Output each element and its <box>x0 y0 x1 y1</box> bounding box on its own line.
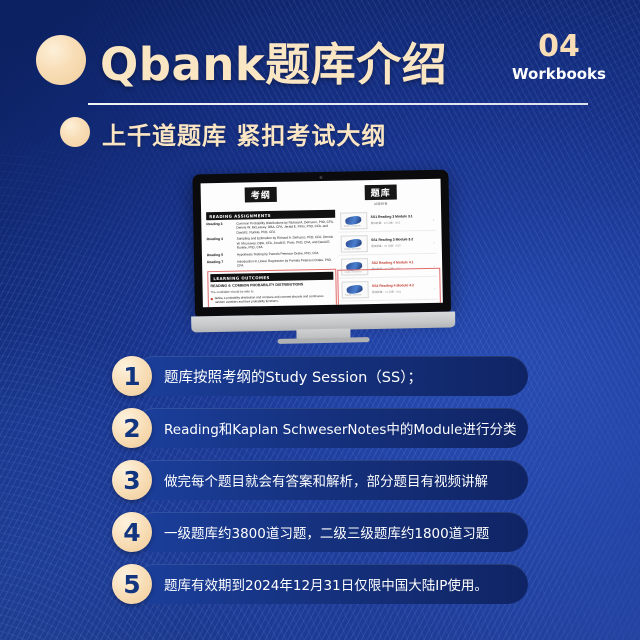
qbank-item-meta: SS1 Reading 3 Module 3.1 题目数量：12 已做：0/12 <box>371 214 430 225</box>
section-number-block: 04 Workbooks <box>500 32 618 82</box>
monitor-stand-foot <box>278 337 370 344</box>
decorative-dot-small <box>60 117 90 147</box>
list-item: 1 题库按照考纲的Study Session（SS）； <box>112 356 528 396</box>
qbank-item-sub: 题目数量：15 已做：0/15 <box>372 266 431 271</box>
list-item: 3 做完每个题目就会有答案和解析，部分题目有视频讲解 <box>112 460 528 500</box>
list-item: 4 一级题库约3800道习题，二级三级题库约1800道习题 <box>112 512 528 552</box>
qbank-item-meta: SS2 Reading 4 Module 4.2 题目数量：11 已做：0/11 <box>372 283 431 294</box>
bullet-square-icon <box>211 298 213 300</box>
qbank-list-item[interactable]: Kaplan Schweser SS1 Reading 3 Module 3.2… <box>339 231 437 256</box>
poster-header: Qbank题库介绍 04 Workbooks 上千道题库 紧扣考试大纲 <box>0 0 640 160</box>
module-thumbnail-icon: Kaplan Schweser <box>342 281 369 299</box>
list-item-number-badge: 1 <box>112 356 152 396</box>
outcome-text: define a probability distribution and co… <box>215 294 335 304</box>
list-item-number-badge: 4 <box>112 512 152 552</box>
learning-outcomes-box: LEARNING OUTCOMES READING 4: COMMON PROB… <box>207 269 338 307</box>
reading-row: Reading 4 Sampling and Estimation by Ric… <box>207 235 337 250</box>
outcome-bullet: define a probability distribution and co… <box>211 294 335 304</box>
chevron-right-icon: › <box>433 216 434 221</box>
qbank-item-meta: SS2 Reading 4 Module 4.1 题目数量：15 已做：0/15 <box>372 260 431 271</box>
decorative-dot-large <box>36 35 86 85</box>
monitor-bezel: 考纲 题库 试题列表 READING ASSIGNMENTS Reading 3… <box>192 170 451 317</box>
list-item: 5 题库有效期到2024年12月31日仅限中国大陆IP使用。 <box>112 564 528 604</box>
qbank-item-sub: 题目数量：11 已做：0/11 <box>372 289 431 294</box>
list-item: 2 Reading和Kaplan SchweserNotes中的Module进行… <box>112 408 528 448</box>
qbank-tag: 题库 <box>365 185 397 201</box>
module-thumbnail-icon: Kaplan Schweser <box>341 258 368 276</box>
syllabus-panel: READING ASSIGNMENTS Reading 3 Common Pro… <box>206 210 338 308</box>
list-item-text: 题库按照考纲的Study Session（SS）； <box>164 356 514 396</box>
section-number-label: Workbooks <box>500 67 618 82</box>
qbank-list-item[interactable]: Kaplan Schweser SS2 Reading 4 Module 4.1… <box>339 254 437 279</box>
reading-row: Reading 7 Introduction to Linear Regress… <box>207 258 337 269</box>
outcome-bullet: calculate and interpret probabilities fo… <box>211 303 335 307</box>
qbank-item-sub: 题目数量：10 已做：0/10 <box>371 243 430 248</box>
qbank-tag-sub: 试题列表 <box>365 202 397 207</box>
list-item-number-badge: 3 <box>112 460 152 500</box>
reading-label: Reading 3 <box>206 222 232 235</box>
header-divider <box>88 103 588 105</box>
learning-outcomes-header: LEARNING OUTCOMES <box>210 272 334 282</box>
monitor-screen: 考纲 题库 试题列表 READING ASSIGNMENTS Reading 3… <box>201 179 443 308</box>
list-item-number-badge: 5 <box>112 564 152 604</box>
qbank-item-meta: SS1 Reading 3 Module 3.2 题目数量：10 已做：0/10 <box>371 237 430 248</box>
chevron-right-icon: › <box>434 262 435 267</box>
reading-text: Hypothesis Testing by Pamela Peterson Dr… <box>237 251 337 258</box>
monitor-illustration: 考纲 题库 试题列表 READING ASSIGNMENTS Reading 3… <box>184 169 459 346</box>
module-thumbnail-icon: Kaplan Schweser <box>341 212 368 230</box>
list-item-text: 做完每个题目就会有答案和解析，部分题目有视频讲解 <box>164 460 514 500</box>
feature-list: 1 题库按照考纲的Study Session（SS）； 2 Reading和Ka… <box>112 356 528 616</box>
module-thumbnail-icon: Kaplan Schweser <box>341 235 368 253</box>
syllabus-tag-wrap: 考纲 <box>245 187 277 209</box>
webcam-icon <box>319 176 322 179</box>
list-item-number-badge: 2 <box>112 408 152 448</box>
qbank-item-sub: 题目数量：12 已做：0/12 <box>371 220 430 225</box>
reading-row: Reading 5 Hypothesis Testing by Pamela P… <box>207 251 337 258</box>
reading-text: Common Probability Distributions by Rich… <box>236 220 336 235</box>
chevron-right-icon: › <box>433 239 434 244</box>
reading-label: Reading 4 <box>207 237 233 250</box>
reading-text: Sampling and Estimation by Richard A. De… <box>237 235 337 250</box>
reading-label: Reading 5 <box>207 253 233 258</box>
screen-body: READING ASSIGNMENTS Reading 3 Common Pro… <box>201 208 443 308</box>
qbank-tag-wrap: 题库 试题列表 <box>365 185 397 207</box>
outcome-text: calculate and interpret probabilities fo… <box>215 303 335 307</box>
screen-tabs: 考纲 题库 试题列表 <box>201 179 442 213</box>
reading-text: Introduction to Linear Regression by Pam… <box>237 258 337 269</box>
list-item-text: 题库有效期到2024年12月31日仅限中国大陆IP使用。 <box>164 564 514 604</box>
list-item-text: Reading和Kaplan SchweserNotes中的Module进行分类 <box>164 408 514 448</box>
syllabus-tag: 考纲 <box>245 187 277 203</box>
reading-label: Reading 7 <box>207 260 233 269</box>
page-subtitle: 上千道题库 紧扣考试大纲 <box>102 116 386 151</box>
qbank-panel: Kaplan Schweser SS1 Reading 3 Module 3.1… <box>339 208 439 307</box>
qbank-list-item[interactable]: Kaplan Schweser SS1 Reading 3 Module 3.1… <box>339 208 437 233</box>
reading-assignments-header: READING ASSIGNMENTS <box>206 210 336 220</box>
reading-row: Reading 3 Common Probability Distributio… <box>206 220 336 235</box>
chevron-right-icon: › <box>434 285 435 290</box>
page-title: Qbank题库介绍 <box>100 28 447 93</box>
poster-canvas: Qbank题库介绍 04 Workbooks 上千道题库 紧扣考试大纲 考纲 题… <box>0 0 640 640</box>
section-number: 04 <box>500 32 618 62</box>
qbank-list-item[interactable]: Kaplan Schweser SS2 Reading 4 Module 4.2… <box>340 277 438 302</box>
list-item-text: 一级题库约3800道习题，二级三级题库约1800道习题 <box>164 512 514 552</box>
